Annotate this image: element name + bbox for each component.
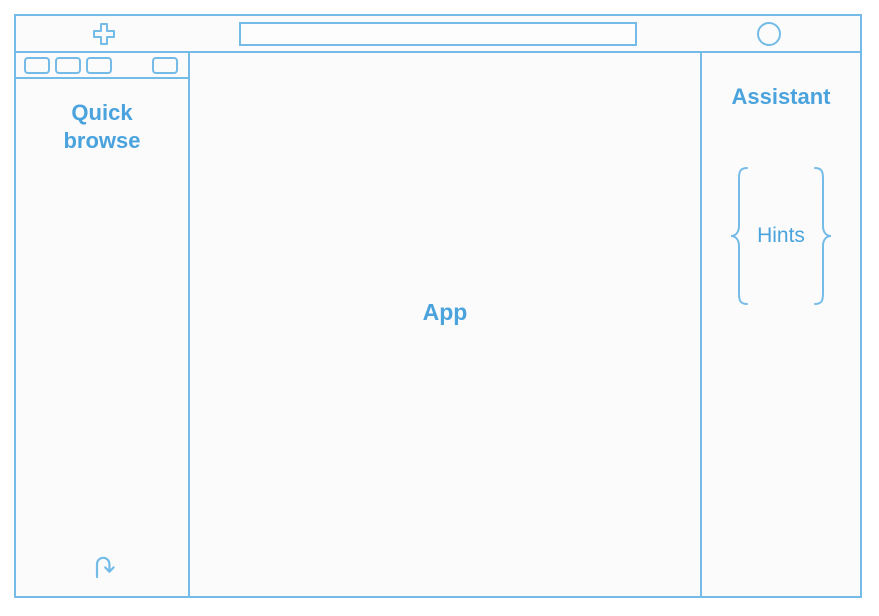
circle-avatar-icon[interactable]: [757, 22, 781, 46]
address-input[interactable]: [239, 22, 637, 46]
sidebar-tool-1-button[interactable]: [24, 57, 50, 74]
sidebar-footer: [16, 538, 188, 596]
sidebar-tool-4-button[interactable]: [152, 57, 178, 74]
hints-label: Hints: [750, 224, 812, 248]
sidebar-panel: Quick browse: [16, 53, 190, 596]
browser-topbar: [16, 16, 860, 53]
left-brace-icon: [728, 166, 750, 306]
window-body: Quick browse App Assistant: [16, 53, 860, 596]
u-turn-arrow-icon[interactable]: [92, 554, 118, 580]
sidebar-tool-2-button[interactable]: [55, 57, 81, 74]
sidebar-content-area: [16, 155, 188, 538]
topbar-center-section: [192, 16, 684, 51]
assistant-panel: Assistant Hints: [702, 53, 860, 596]
app-content-panel: App: [190, 53, 702, 596]
sidebar-toolbar: [16, 53, 188, 79]
topbar-right-section: [684, 16, 860, 51]
right-brace-icon: [812, 166, 834, 306]
hints-block: Hints: [728, 166, 834, 306]
sidebar-title: Quick browse: [16, 99, 188, 155]
app-label: App: [423, 299, 468, 326]
sidebar-tool-3-button[interactable]: [86, 57, 112, 74]
topbar-left-section: [16, 16, 192, 51]
assistant-title: Assistant: [731, 84, 830, 110]
wireframe-window: Quick browse App Assistant: [14, 14, 862, 598]
plus-icon[interactable]: [92, 22, 116, 46]
